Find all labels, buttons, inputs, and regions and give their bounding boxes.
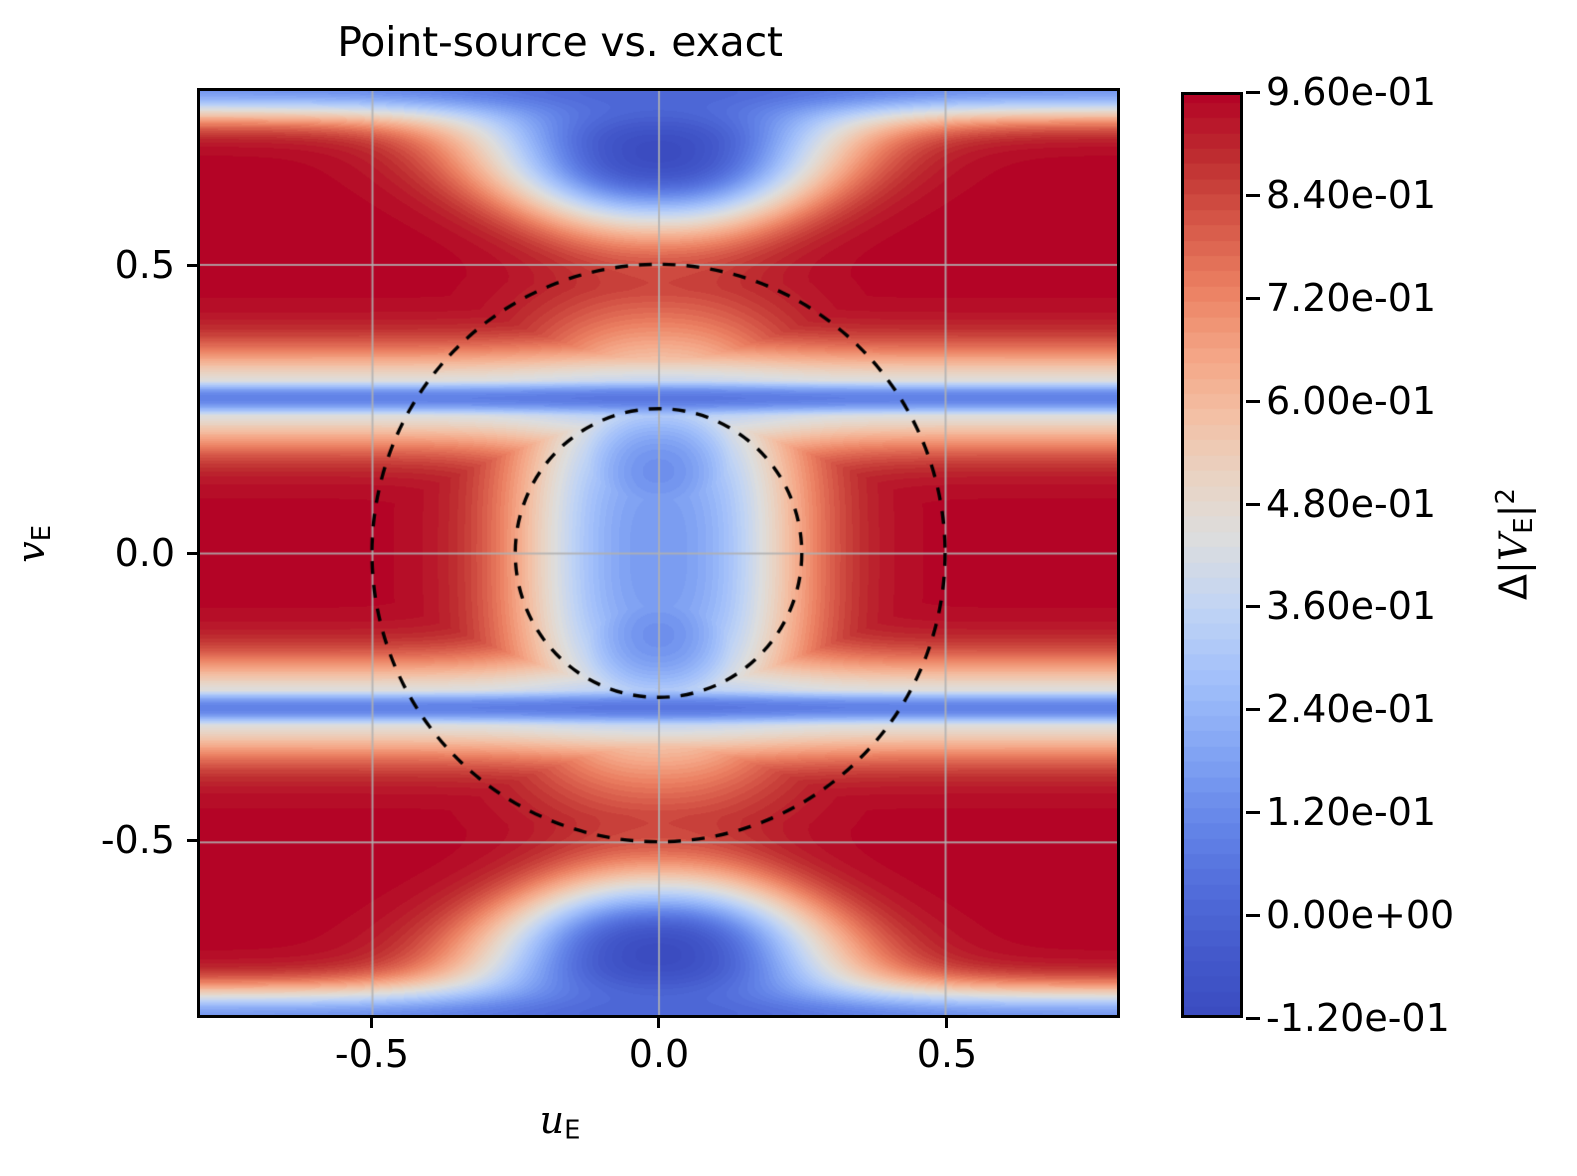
colorbar-ticklabel-0: 9.60e-01 xyxy=(1266,73,1436,111)
annotation-overlay xyxy=(200,91,1117,1015)
x-ticklabel--0.5: -0.5 xyxy=(272,1034,472,1074)
colorbar-tick-3 xyxy=(1246,400,1260,403)
colorbar-tick-8 xyxy=(1246,914,1260,917)
y-axis-label: vE xyxy=(9,484,57,604)
colorbar-tick-1 xyxy=(1246,194,1260,197)
colorbar-gradient xyxy=(1184,95,1240,1015)
colorbar-tick-2 xyxy=(1246,297,1260,300)
colorbar-label: Δ|VE|2 xyxy=(1491,484,1539,604)
colorbar-tick-5 xyxy=(1246,605,1260,608)
colorbar-tick-0 xyxy=(1246,91,1260,94)
colorbar-ticklabel-3: 6.00e-01 xyxy=(1266,382,1436,420)
colorbar-ticklabel-9: -1.20e-01 xyxy=(1266,999,1450,1037)
x-ticklabel-0.0: 0.0 xyxy=(559,1034,759,1074)
colorbar-ticklabel-6: 2.40e-01 xyxy=(1266,690,1436,728)
colorbar[interactable] xyxy=(1181,92,1243,1018)
colorbar-ticklabel-7: 1.20e-01 xyxy=(1266,793,1436,831)
x-axis-label: uE xyxy=(0,1098,1120,1146)
x-tick-0.5 xyxy=(945,1018,948,1028)
colorbar-ticklabel-4: 4.80e-01 xyxy=(1266,485,1436,523)
chart-title: Point-source vs. exact xyxy=(0,18,1120,66)
colorbar-tick-6 xyxy=(1246,708,1260,711)
colorbar-tick-7 xyxy=(1246,811,1260,814)
plot-axes[interactable] xyxy=(197,88,1120,1018)
y-tick-0.0 xyxy=(187,552,197,555)
x-tick--0.5 xyxy=(370,1018,373,1028)
colorbar-ticklabel-2: 7.20e-01 xyxy=(1266,279,1436,317)
colorbar-ticklabel-5: 3.60e-01 xyxy=(1266,587,1436,625)
y-ticklabel-0.5: 0.5 xyxy=(15,246,175,284)
colorbar-tick-9 xyxy=(1246,1017,1260,1020)
x-tick-0.0 xyxy=(657,1018,660,1028)
colorbar-tick-4 xyxy=(1246,503,1260,506)
y-tick--0.5 xyxy=(187,839,197,842)
figure-root: Point-source vs. exact 0.5 0.0 -0.5 -0.5… xyxy=(0,0,1577,1176)
colorbar-ticklabel-8: 0.00e+00 xyxy=(1266,896,1454,934)
x-ticklabel-0.5: 0.5 xyxy=(847,1034,1047,1074)
colorbar-ticklabel-1: 8.40e-01 xyxy=(1266,176,1436,214)
y-tick-0.5 xyxy=(187,264,197,267)
y-ticklabel--0.5: -0.5 xyxy=(15,821,175,859)
